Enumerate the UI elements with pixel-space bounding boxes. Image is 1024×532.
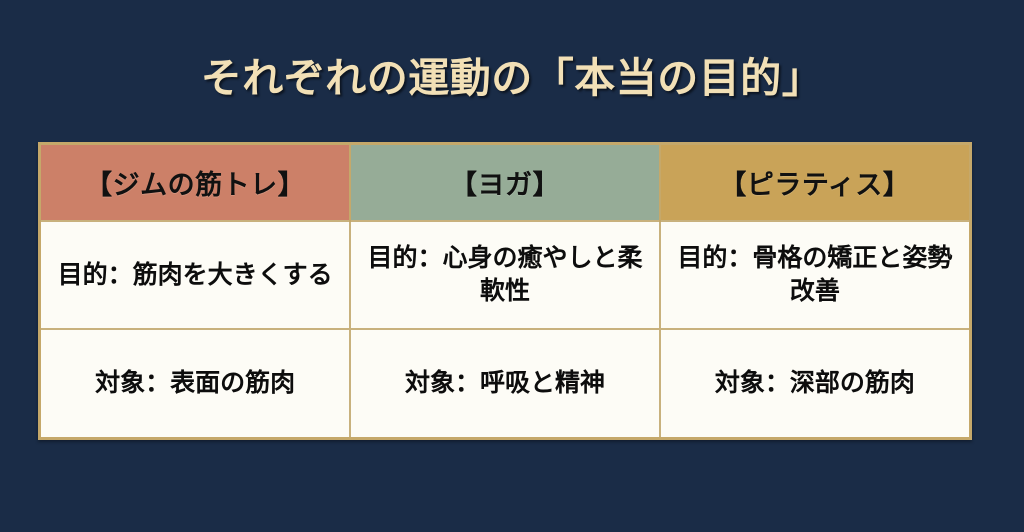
cell-target-yoga: 対象：呼吸と精神 [350,329,659,437]
cell-text: 目的：心身の癒やしと柔軟性 [365,242,644,308]
comparison-table-frame: 【ジムの筋トレ】 【ヨガ】 【ピラティス】 目的：筋肉を大きくする 目的：心身の… [38,142,972,440]
comparison-table: 【ジムの筋トレ】 【ヨガ】 【ピラティス】 目的：筋肉を大きくする 目的：心身の… [41,145,969,437]
cell-text: 対象：深部の筋肉 [675,367,955,400]
cell-text: 対象：表面の筋肉 [55,367,335,400]
title-container: それぞれの運動の「本当の目的」 [0,26,1024,132]
column-header-gym: 【ジムの筋トレ】 [41,145,350,221]
cell-target-gym: 対象：表面の筋肉 [41,329,350,437]
cell-text: 対象：呼吸と精神 [365,367,644,400]
cell-purpose-yoga: 目的：心身の癒やしと柔軟性 [350,221,659,329]
table-header: 【ジムの筋トレ】 【ヨガ】 【ピラティス】 [41,145,969,221]
cell-purpose-gym: 目的：筋肉を大きくする [41,221,350,329]
table-header-row: 【ジムの筋トレ】 【ヨガ】 【ピラティス】 [41,145,969,221]
column-header-yoga: 【ヨガ】 [350,145,659,221]
cell-purpose-pilates: 目的：骨格の矯正と姿勢改善 [660,221,969,329]
cell-text: 目的：筋肉を大きくする [55,259,335,292]
slide-root: それぞれの運動の「本当の目的」 【ジムの筋トレ】 【ヨガ】 【ピラティス】 目的… [0,0,1024,532]
table-row-target: 対象：表面の筋肉 対象：呼吸と精神 対象：深部の筋肉 [41,329,969,437]
cell-target-pilates: 対象：深部の筋肉 [660,329,969,437]
table-body: 目的：筋肉を大きくする 目的：心身の癒やしと柔軟性 目的：骨格の矯正と姿勢改善 … [41,221,969,437]
column-header-pilates: 【ピラティス】 [660,145,969,221]
cell-text: 目的：骨格の矯正と姿勢改善 [675,242,955,308]
table-row-purpose: 目的：筋肉を大きくする 目的：心身の癒やしと柔軟性 目的：骨格の矯正と姿勢改善 [41,221,969,329]
page-title: それぞれの運動の「本当の目的」 [201,53,824,104]
